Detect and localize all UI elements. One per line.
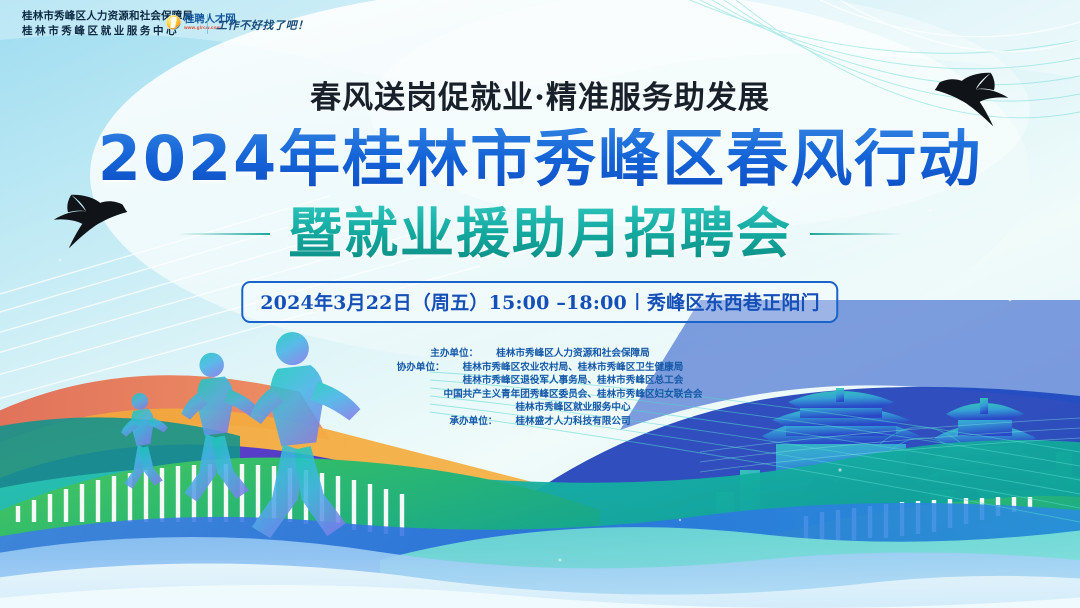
organizer-row: 桂林市秀峰区就业服务中心 bbox=[449, 401, 630, 415]
organizer-label: 承办单位： bbox=[449, 415, 515, 429]
organizer-value: 桂林盛才人力科技有限公司 bbox=[515, 415, 630, 429]
organizer-row: 协办单位： 桂林市秀峰区农业农村局、桂林市秀峰区卫生健康局 bbox=[397, 361, 684, 375]
title-rule-left bbox=[178, 233, 270, 235]
title-rule-right bbox=[810, 233, 902, 235]
event-datetime-venue-box: 2024年3月22日（周五）15:00 –18:00 秀峰区东西巷正阳门 bbox=[241, 281, 838, 323]
poster-content: 春风送岗促就业·精准服务助发展 2024年桂林市秀峰区春风行动 暨就业援助月招聘… bbox=[0, 0, 1080, 608]
organizer-row: 主办单位： 桂林市秀峰区人力资源和社会保障局 bbox=[430, 347, 650, 361]
event-datetime: 2024年3月22日（周五）15:00 –18:00 bbox=[260, 288, 627, 315]
organizer-value: 桂林市秀峰区就业服务中心 bbox=[515, 401, 630, 415]
organizer-value: 桂林市秀峰区农业农村局、桂林市秀峰区卫生健康局 bbox=[463, 361, 684, 375]
poster-title-secondary-row: 暨就业援助月招聘会 bbox=[0, 205, 1080, 262]
organizer-label: 协办单位： bbox=[397, 361, 463, 375]
organizer-value: 中国共产主义青年团秀峰区委员会、桂林市秀峰区妇女联合会 bbox=[443, 388, 702, 402]
organizer-list: 主办单位： 桂林市秀峰区人力资源和社会保障局 协办单位： 桂林市秀峰区农业农村局… bbox=[0, 347, 1080, 429]
organizer-value: 桂林市秀峰区退役军人事务局、桂林市秀峰区总工会 bbox=[463, 374, 684, 388]
organizer-label: 主办单位： bbox=[430, 347, 496, 361]
datebox-separator bbox=[636, 293, 638, 310]
organizer-row: 中国共产主义青年团秀峰区委员会、桂林市秀峰区妇女联合会 bbox=[377, 388, 702, 402]
poster-title-secondary: 暨就业援助月招聘会 bbox=[288, 205, 792, 262]
organizer-row: 承办单位： 桂林盛才人力科技有限公司 bbox=[449, 415, 630, 429]
organizer-label bbox=[377, 388, 443, 402]
organizer-label bbox=[449, 401, 515, 415]
event-venue: 秀峰区东西巷正阳门 bbox=[647, 288, 820, 315]
poster-title-main: 2024年桂林市秀峰区春风行动 bbox=[0, 128, 1080, 190]
poster-canvas: 桂林市秀峰区人力资源和社会保障局 桂林市秀峰区就业服务中心 桂聘人才网 www.… bbox=[0, 0, 1080, 608]
organizer-label bbox=[397, 374, 463, 388]
poster-subtitle: 春风送岗促就业·精准服务助发展 bbox=[0, 72, 1080, 117]
organizer-row: 桂林市秀峰区退役军人事务局、桂林市秀峰区总工会 bbox=[397, 374, 684, 388]
organizer-value: 桂林市秀峰区人力资源和社会保障局 bbox=[496, 347, 650, 361]
